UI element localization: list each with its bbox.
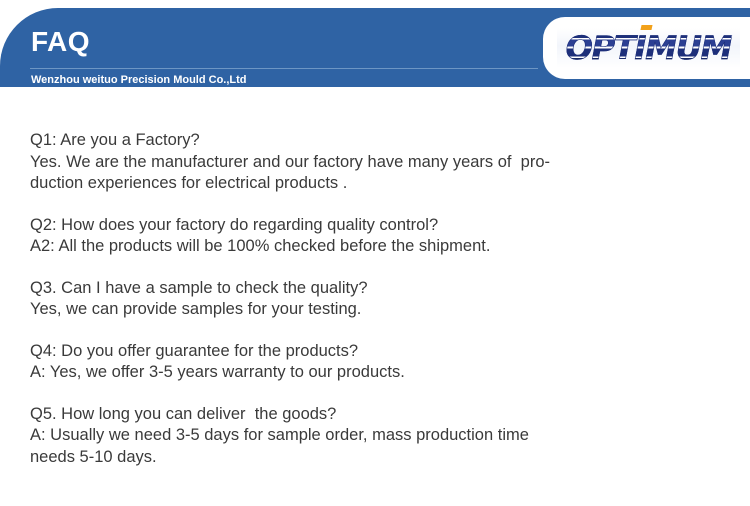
faq-group: Q1: Are you a Factory?Yes. We are the ma…: [30, 130, 720, 195]
faq-group: Q2: How does your factory do regarding q…: [30, 215, 720, 258]
faq-question: Q1: Are you a Factory?: [30, 130, 720, 152]
faq-answer-line: needs 5-10 days.: [30, 447, 720, 469]
logo-plate: OPTIMUM: [543, 17, 750, 79]
faq-group: Q5. How long you can deliver the goods?A…: [30, 404, 720, 469]
faq-content: Q1: Are you a Factory?Yes. We are the ma…: [30, 130, 720, 468]
faq-question: Q3. Can I have a sample to check the qua…: [30, 278, 720, 300]
faq-group: Q4: Do you offer guarantee for the produ…: [30, 341, 720, 384]
faq-answer-line: Yes, we can provide samples for your tes…: [30, 299, 720, 321]
faq-question: Q2: How does your factory do regarding q…: [30, 215, 720, 237]
faq-answer-line: duction experiences for electrical produ…: [30, 173, 720, 195]
faq-question: Q5. How long you can deliver the goods?: [30, 404, 720, 426]
faq-group: Q3. Can I have a sample to check the qua…: [30, 278, 720, 321]
faq-question: Q4: Do you offer guarantee for the produ…: [30, 341, 720, 363]
faq-answer-line: A: Yes, we offer 3-5 years warranty to o…: [30, 362, 720, 384]
faq-answer-line: A: Usually we need 3-5 days for sample o…: [30, 425, 720, 447]
faq-answer-line: A2: All the products will be 100% checke…: [30, 236, 720, 258]
logo-inner: OPTIMUM: [557, 28, 740, 68]
optimum-logo: OPTIMUM: [566, 32, 732, 64]
header-divider: [30, 68, 538, 69]
faq-answer-line: Yes. We are the manufacturer and our fac…: [30, 152, 720, 174]
company-name: Wenzhou weituo Precision Mould Co.,Ltd: [31, 74, 247, 86]
page-title: FAQ: [31, 28, 90, 56]
logo-accent-dot-icon: [640, 25, 652, 30]
